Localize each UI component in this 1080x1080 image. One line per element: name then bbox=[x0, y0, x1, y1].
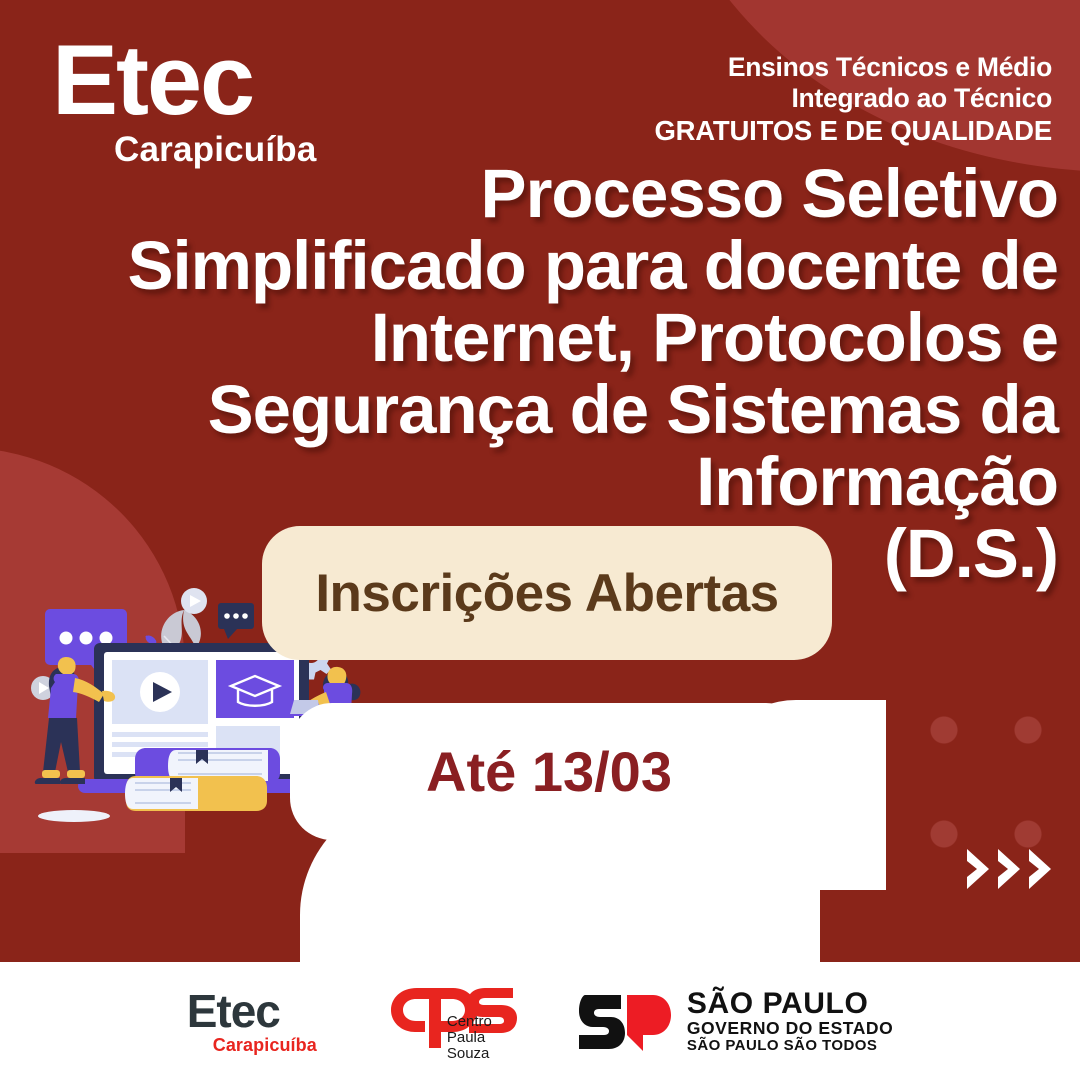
chevron-right-icon bbox=[995, 846, 1023, 892]
tagline-block: Ensinos Técnicos e Médio Integrado ao Té… bbox=[654, 52, 1052, 147]
etec-brand-logo: Etec Carapicuíba bbox=[52, 33, 317, 170]
speech-bubble-navy bbox=[218, 603, 254, 639]
footer-etec-name: Etec bbox=[187, 988, 317, 1034]
sp-wordmark: SÃO PAULO GOVERNO DO ESTADO SÃO PAULO SÃ… bbox=[687, 989, 893, 1053]
sp-line-1: SÃO PAULO bbox=[687, 989, 893, 1020]
headline-line-5: Informação bbox=[0, 446, 1058, 518]
footer-etec-logo: Etec Carapicuíba bbox=[187, 988, 317, 1054]
cps-line-1: Centro bbox=[447, 1014, 521, 1030]
footer-cps-logo: Centro Paula Souza bbox=[373, 976, 521, 1066]
footer-sao-paulo-logo: SÃO PAULO GOVERNO DO ESTADO SÃO PAULO SÃ… bbox=[577, 985, 893, 1057]
sp-line-2: GOVERNO DO ESTADO bbox=[687, 1020, 893, 1038]
chevron-arrows-group bbox=[964, 846, 1054, 892]
headline-line-1: Processo Seletivo bbox=[0, 158, 1058, 230]
chevron-right-icon bbox=[1026, 846, 1054, 892]
books-illustration bbox=[125, 748, 280, 811]
cps-wordmark: Centro Paula Souza bbox=[447, 1014, 521, 1062]
footer-logo-bar: Etec Carapicuíba Centro Paula Souza SÃO … bbox=[0, 962, 1080, 1080]
tagline-line-3: GRATUITOS E DE QUALIDADE bbox=[654, 115, 1052, 147]
brand-name: Etec bbox=[52, 33, 317, 126]
cps-line-2: Paula Souza bbox=[447, 1030, 521, 1062]
headline-line-3: Internet, Protocolos e bbox=[0, 302, 1058, 374]
tagline-line-1: Ensinos Técnicos e Médio bbox=[654, 52, 1052, 83]
chevron-right-icon bbox=[964, 846, 992, 892]
deadline-badge-label: Até 13/03 bbox=[426, 739, 672, 804]
play-badge-icon bbox=[181, 588, 207, 614]
status-badge: Inscrições Abertas bbox=[262, 526, 832, 660]
tagline-line-2: Integrado ao Técnico bbox=[654, 83, 1052, 114]
sp-mark-icon bbox=[577, 985, 673, 1057]
deadline-badge: Até 13/03 bbox=[290, 703, 808, 840]
status-badge-label: Inscrições Abertas bbox=[315, 563, 778, 624]
headline-line-4: Segurança de Sistemas da bbox=[0, 374, 1058, 446]
footer-etec-unit: Carapicuíba bbox=[213, 1036, 317, 1054]
poster-canvas: Etec Carapicuíba Ensinos Técnicos e Médi… bbox=[0, 0, 1080, 1080]
sp-line-3: SÃO PAULO SÃO TODOS bbox=[687, 1038, 893, 1053]
headline-line-2: Simplificado para docente de bbox=[0, 230, 1058, 302]
